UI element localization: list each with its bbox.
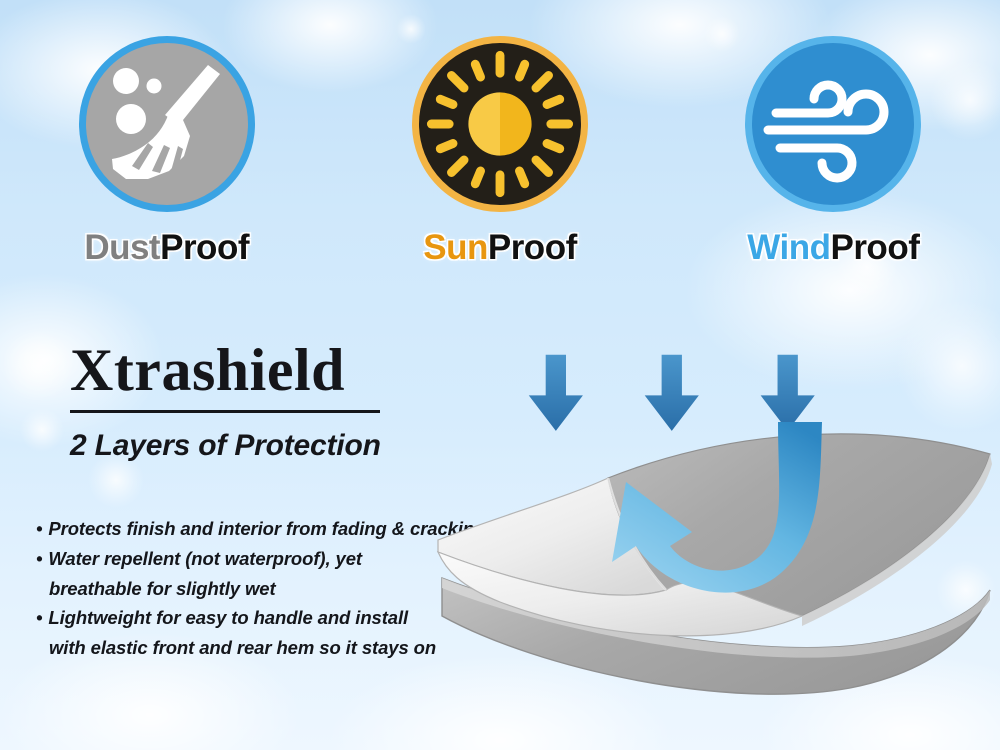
sun-proof-label: SunProof <box>423 228 577 268</box>
feature-text: Water repellent (not waterproof), yet <box>48 546 506 573</box>
badge-dust-proof[interactable]: DustProof <box>42 36 292 268</box>
brand-block: Xtrashield 2 Layers of Protection <box>70 340 490 463</box>
sun-proof-label-primary: Sun <box>423 228 488 267</box>
feature-list: • Protects finish and interior from fadi… <box>36 516 506 665</box>
dust-proof-circle <box>79 36 255 212</box>
bullet-dot-icon: • <box>36 605 42 632</box>
feature-badge-row: DustProof <box>0 36 1000 286</box>
list-item: • Water repellent (not waterproof), yet <box>36 546 506 573</box>
feature-text-continued: breathable for slightly wet <box>36 576 506 603</box>
wind-proof-circle <box>745 36 921 212</box>
brand-name: Xtrashield <box>70 340 490 400</box>
feature-text-continued: with elastic front and rear hem so it st… <box>36 635 506 662</box>
list-item: • Protects finish and interior from fadi… <box>36 516 506 543</box>
brand-divider <box>70 410 380 413</box>
sun-icon <box>421 45 579 203</box>
broom-icon <box>86 43 248 205</box>
dust-proof-label: DustProof <box>84 228 249 268</box>
sun-proof-circle <box>412 36 588 212</box>
wind-proof-label-secondary: Proof <box>830 228 919 267</box>
bullet-dot-icon: • <box>36 516 42 543</box>
feature-text: Protects finish and interior from fading… <box>48 516 506 543</box>
infographic-canvas: DustProof <box>0 0 1000 750</box>
dust-proof-label-primary: Dust <box>84 228 160 267</box>
badge-sun-proof[interactable]: SunProof <box>375 36 625 268</box>
wind-proof-label-primary: Wind <box>747 228 830 267</box>
brand-tagline: 2 Layers of Protection <box>70 429 490 463</box>
sun-proof-label-secondary: Proof <box>488 228 577 267</box>
list-item: • Lightweight for easy to handle and ins… <box>36 605 506 632</box>
feature-text: Lightweight for easy to handle and insta… <box>48 605 506 632</box>
dust-proof-label-secondary: Proof <box>160 228 249 267</box>
wind-icon <box>758 49 908 199</box>
bullet-dot-icon: • <box>36 546 42 573</box>
badge-wind-proof[interactable]: WindProof <box>708 36 958 268</box>
wind-proof-label: WindProof <box>747 228 919 268</box>
